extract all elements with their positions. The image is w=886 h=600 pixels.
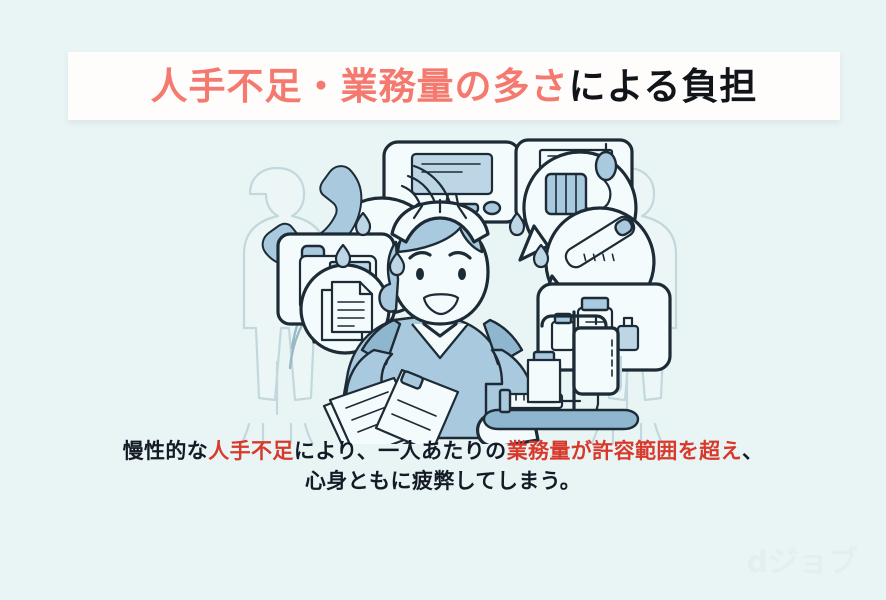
illustration-stage: .ln { fill:none; stroke:#1c2b35; stroke-… <box>0 124 886 444</box>
caption-highlight-2: 業務量が許容範囲を超え <box>507 439 742 463</box>
caption-seg-3: 、 <box>742 439 763 463</box>
title-band: 人手不足・業務量の多さによる負担 <box>68 52 840 120</box>
caption-seg-1: 慢性的な <box>123 439 209 463</box>
infographic-page: 人手不足・業務量の多さによる負担 .ln { fill:none; stroke… <box>0 0 886 600</box>
caption-seg-2: により、一人あたりの <box>294 439 507 463</box>
tray-medicine-bottle-icon <box>528 352 560 402</box>
page-title: 人手不足・業務量の多さによる負担 <box>151 68 758 105</box>
page-title-plain: による負担 <box>569 65 758 108</box>
caption-highlight-1: 人手不足 <box>208 439 294 463</box>
caption-line-2: 心身ともに疲弊してしまう。 <box>0 467 886 497</box>
djob-logo: dジョブ <box>747 548 858 578</box>
page-title-highlight: 人手不足・業務量の多さ <box>151 65 569 108</box>
caption-line-1: 慢性的な人手不足により、一人あたりの業務量が許容範囲を超え、 <box>0 437 886 467</box>
caption-text: 慢性的な人手不足により、一人あたりの業務量が許容範囲を超え、 心身ともに疲弊して… <box>0 437 886 497</box>
